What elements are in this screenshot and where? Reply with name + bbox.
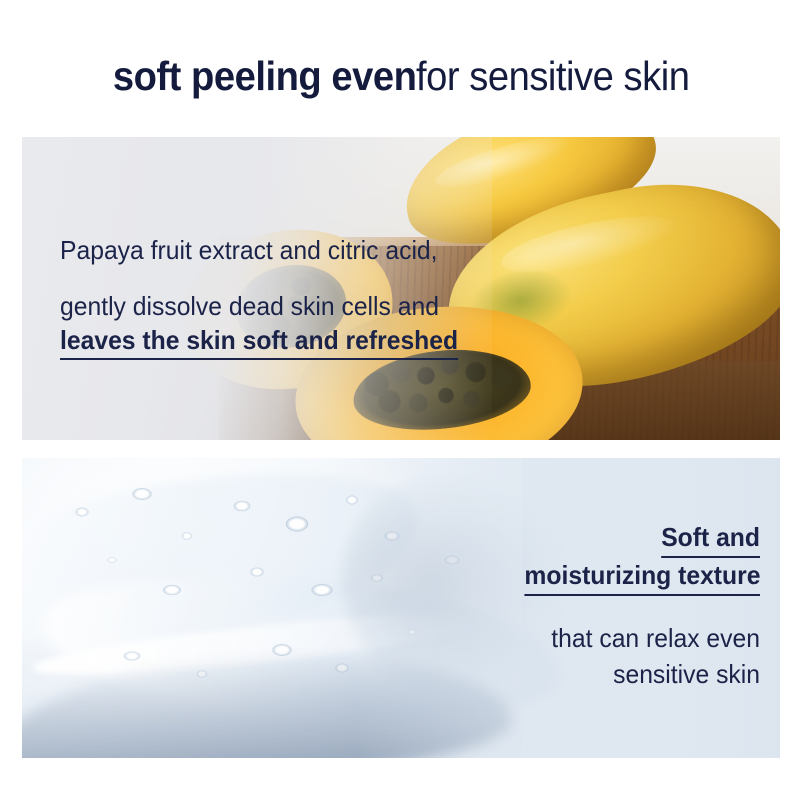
papaya-copy-block: Papaya fruit extract and citric acid, ge… [60,235,480,360]
papaya-copy-line-2: gently dissolve dead skin cells and [60,291,459,321]
gel-texture-panel: Soft and moisturizing texture that can r… [22,458,780,758]
papaya-copy-line-3-highlight: leaves the skin soft and refreshed [60,325,458,360]
gel-copy-block: Soft and moisturizing texture that can r… [330,520,760,692]
papaya-benefit-panel: Papaya fruit extract and citric acid, ge… [22,137,780,440]
papaya-copy-line-1: Papaya fruit extract and citric acid, [60,235,459,265]
gel-copy-light-line-2: sensitive skin [352,656,761,692]
product-detail-page: soft peeling even for sensitive skin Pap… [0,0,800,800]
gel-copy-light-line-1: that can relax even [352,620,761,656]
headline-bold-text: soft peeling even [113,52,417,100]
gel-copy-bold-line-1: Soft and [661,520,760,558]
page-headline: soft peeling even for sensitive skin [0,52,800,100]
headline-light-text: for sensitive skin [416,52,689,100]
gel-copy-bold-line-2: moisturizing texture [524,558,760,596]
